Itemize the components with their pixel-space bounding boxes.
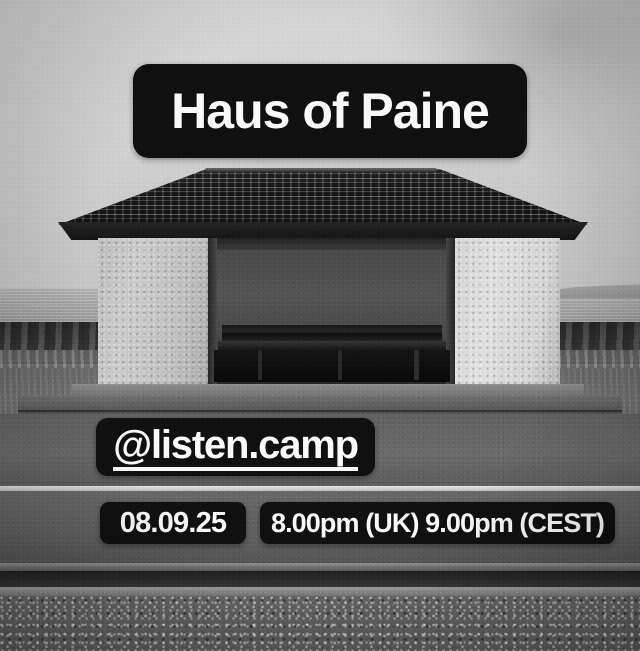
event-poster: Haus of Paine @listen.camp 08.09.25 8.00… — [0, 0, 640, 651]
shelter-interior-lintel — [208, 238, 455, 250]
social-handle[interactable]: @listen.camp — [113, 424, 358, 471]
event-date: 08.09.25 — [120, 507, 227, 540]
poster-title-badge: Haus of Paine — [133, 64, 527, 158]
roof-ridge — [205, 168, 437, 172]
gutter-strip — [0, 587, 640, 596]
poster-title: Haus of Paine — [171, 82, 489, 140]
asphalt-road — [0, 596, 640, 651]
event-time-badge: 8.00pm (UK) 9.00pm (CEST) — [260, 502, 615, 544]
social-handle-badge[interactable]: @listen.camp — [96, 418, 375, 476]
bench-seat — [218, 341, 446, 350]
bench-leg — [414, 350, 419, 380]
event-date-badge: 08.09.25 — [100, 502, 246, 544]
bench-leg — [338, 350, 342, 380]
event-time: 8.00pm (UK) 9.00pm (CEST) — [271, 508, 604, 539]
kerb-face — [0, 571, 640, 587]
bench-backrest — [222, 325, 442, 341]
shelter-right-pillar — [455, 238, 560, 386]
kerb-top — [0, 563, 640, 571]
bench-leg — [258, 350, 262, 380]
shelter-left-pillar — [98, 238, 208, 386]
